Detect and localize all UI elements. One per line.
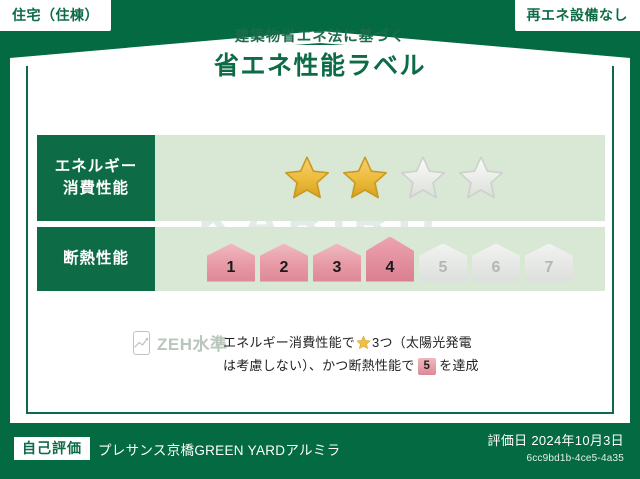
insulation-level-scale: 1234567 <box>207 237 573 282</box>
title-block: 建築物省エネ法に基づく 省エネ性能ラベル <box>0 30 640 79</box>
desc-part3: を達成 <box>439 358 479 373</box>
building-name: プレサンス京橋GREEN YARDアルミラ <box>98 439 340 459</box>
inline-star-icon <box>356 335 371 350</box>
achievement-description: エネルギー消費性能で 3つ（太陽光発電 は考慮しない）、かつ断熱性能で5を達成 <box>223 330 605 378</box>
row-energy-performance: エネルギー 消費性能 <box>37 135 605 221</box>
insulation-level-7: 7 <box>525 244 573 282</box>
star-empty-icon <box>398 154 448 202</box>
page-title: 省エネ性能ラベル <box>0 54 640 79</box>
row-insulation-label-text: 断熱性能 <box>63 248 129 270</box>
row-energy-label-line1: エネルギー <box>55 156 138 178</box>
star-empty-icon <box>456 154 506 202</box>
row-insulation-performance: 断熱性能 1234567 <box>37 227 605 291</box>
insulation-level-2: 2 <box>260 244 308 282</box>
zeh-chart-icon <box>133 331 150 355</box>
evaluation-id: 6cc9bd1b-4ce5-4a35 <box>488 453 624 464</box>
desc-level-chip: 5 <box>418 358 437 375</box>
insulation-level-4: 4 <box>366 237 414 282</box>
insulation-level-6: 6 <box>472 244 520 282</box>
insulation-level-5: 5 <box>419 244 467 282</box>
energy-label-page: { "top_tags": { "left": "住宅（住棟）", "right… <box>0 0 640 479</box>
evaluation-date: 評価日 2024年10月3日 <box>488 433 624 450</box>
insulation-level-3: 3 <box>313 244 361 282</box>
tag-renewable-energy: 再エネ設備なし <box>515 0 640 31</box>
self-evaluation-badge: 自己評価 <box>14 437 90 460</box>
row-energy-label: エネルギー 消費性能 <box>37 135 155 221</box>
tag-building-type: 住宅（住棟） <box>0 0 111 31</box>
evaluation-date-value: 2024年10月3日 <box>531 433 624 448</box>
desc-part1: エネルギー消費性能で <box>223 335 355 350</box>
row-energy-body <box>155 135 605 221</box>
star-filled-icon <box>340 154 390 202</box>
star-rating <box>282 154 506 202</box>
row-insulation-body: 1234567 <box>155 227 605 291</box>
zeh-badge: ZEH水準 <box>37 330 223 355</box>
zeh-label: ZEH水準 <box>157 330 228 355</box>
insulation-level-1: 1 <box>207 244 255 282</box>
desc-part2: は考慮しない）、かつ断熱性能で <box>223 358 415 373</box>
desc-stars-count: 3つ（太陽光発電 <box>372 335 472 350</box>
zeh-description-row: ZEH水準 エネルギー消費性能で 3つ（太陽光発電 は考慮しない）、かつ断熱性能… <box>37 330 605 378</box>
footer-left: 自己評価 プレサンス京橋GREEN YARDアルミラ <box>14 437 340 460</box>
performance-rows: エネルギー 消費性能 断熱性能 1234567 <box>37 135 605 297</box>
evaluation-date-label: 評価日 <box>488 433 528 448</box>
footer-right: 評価日 2024年10月3日 6cc9bd1b-4ce5-4a35 <box>488 433 624 464</box>
row-energy-label-line2: 消費性能 <box>63 178 129 200</box>
footer: 自己評価 プレサンス京橋GREEN YARDアルミラ 評価日 2024年10月3… <box>0 423 640 479</box>
row-insulation-label: 断熱性能 <box>37 227 155 291</box>
title-subtitle: 建築物省エネ法に基づく <box>0 30 640 45</box>
star-filled-icon <box>282 154 332 202</box>
